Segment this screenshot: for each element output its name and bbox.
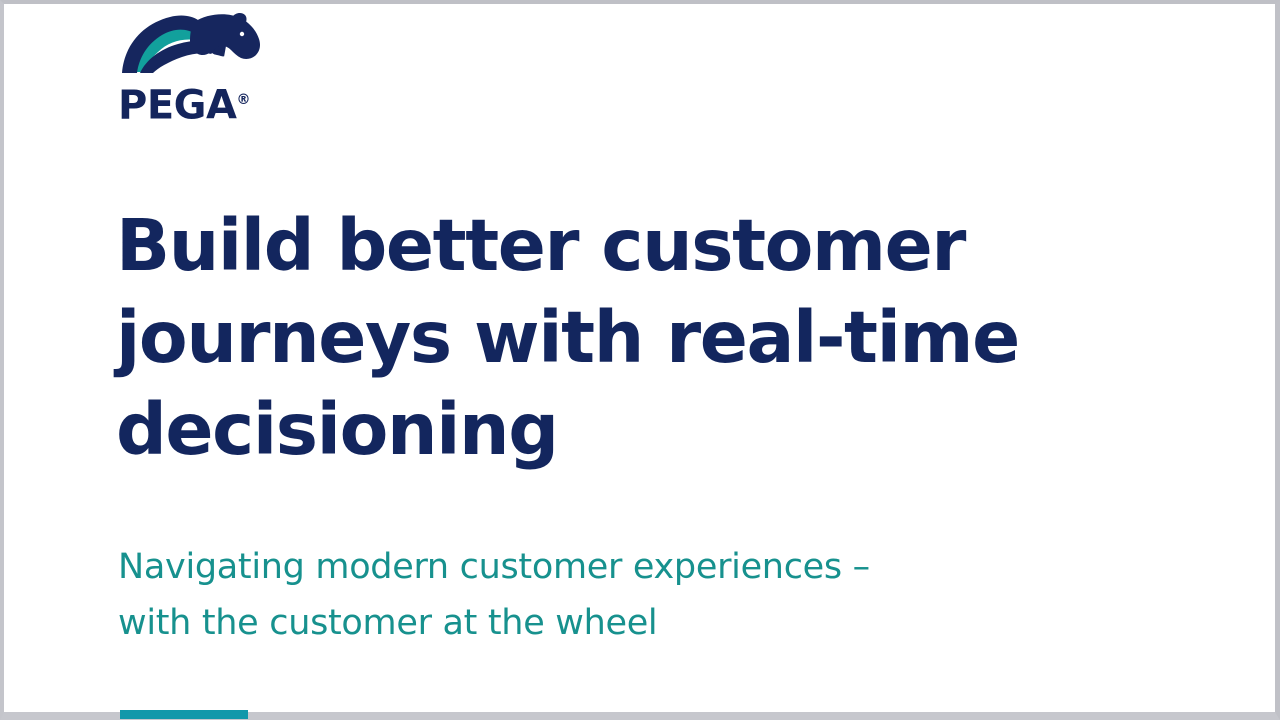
slide-subtitle: Navigating modern customer experiences –… (118, 539, 1018, 651)
pega-wordmark-text: PEGA (118, 82, 236, 128)
pega-wordmark: PEGA® (118, 80, 250, 125)
slide-frame: PEGA® Build better customer journeys wit… (0, 0, 1280, 720)
slide-canvas: PEGA® Build better customer journeys wit… (4, 4, 1275, 712)
slide-headline: Build better customer journeys with real… (116, 200, 1126, 476)
pega-horse-logo-icon (116, 12, 264, 76)
registered-trademark-icon: ® (236, 92, 250, 108)
pega-logo[interactable]: PEGA® (116, 12, 276, 124)
accent-bar (120, 710, 248, 719)
